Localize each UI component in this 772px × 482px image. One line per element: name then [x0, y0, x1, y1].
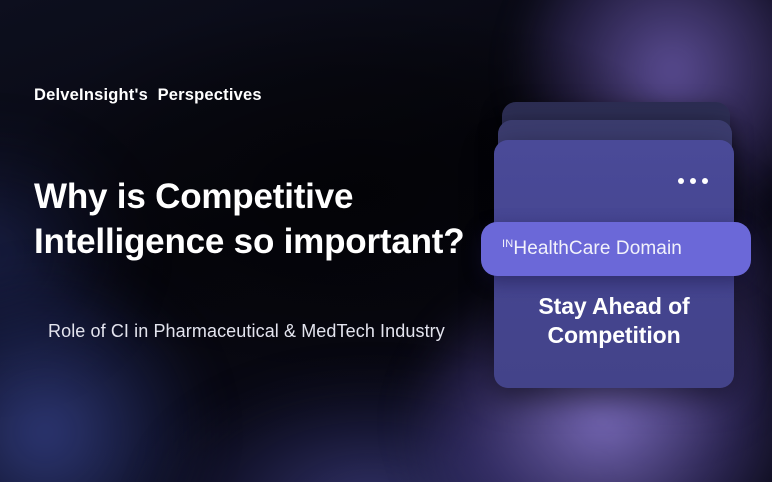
dot-1 — [678, 178, 684, 184]
healthcare-domain-pill[interactable]: INHealthCare Domain — [481, 222, 751, 276]
ellipsis-horizontal-icon[interactable] — [678, 178, 708, 184]
cta-text: Stay Ahead of Competition — [494, 292, 734, 350]
dot-2 — [690, 178, 696, 184]
pill-label: INHealthCare Domain — [502, 238, 682, 260]
dot-3 — [702, 178, 708, 184]
pill-superscript: IN — [502, 238, 513, 250]
left-text-column: DelveInsight's Perspectives Why is Compe… — [34, 0, 474, 482]
brand-label: DelveInsight's Perspectives — [34, 86, 262, 105]
slide-canvas: DelveInsight's Perspectives Why is Compe… — [0, 0, 772, 482]
page-title: Why is Competitive Intelligence so impor… — [34, 174, 474, 264]
pill-main-text: HealthCare Domain — [513, 238, 682, 259]
page-subtitle: Role of CI in Pharmaceutical & MedTech I… — [48, 316, 468, 346]
card-stack: INHealthCare Domain Stay Ahead of Compet… — [480, 96, 746, 396]
